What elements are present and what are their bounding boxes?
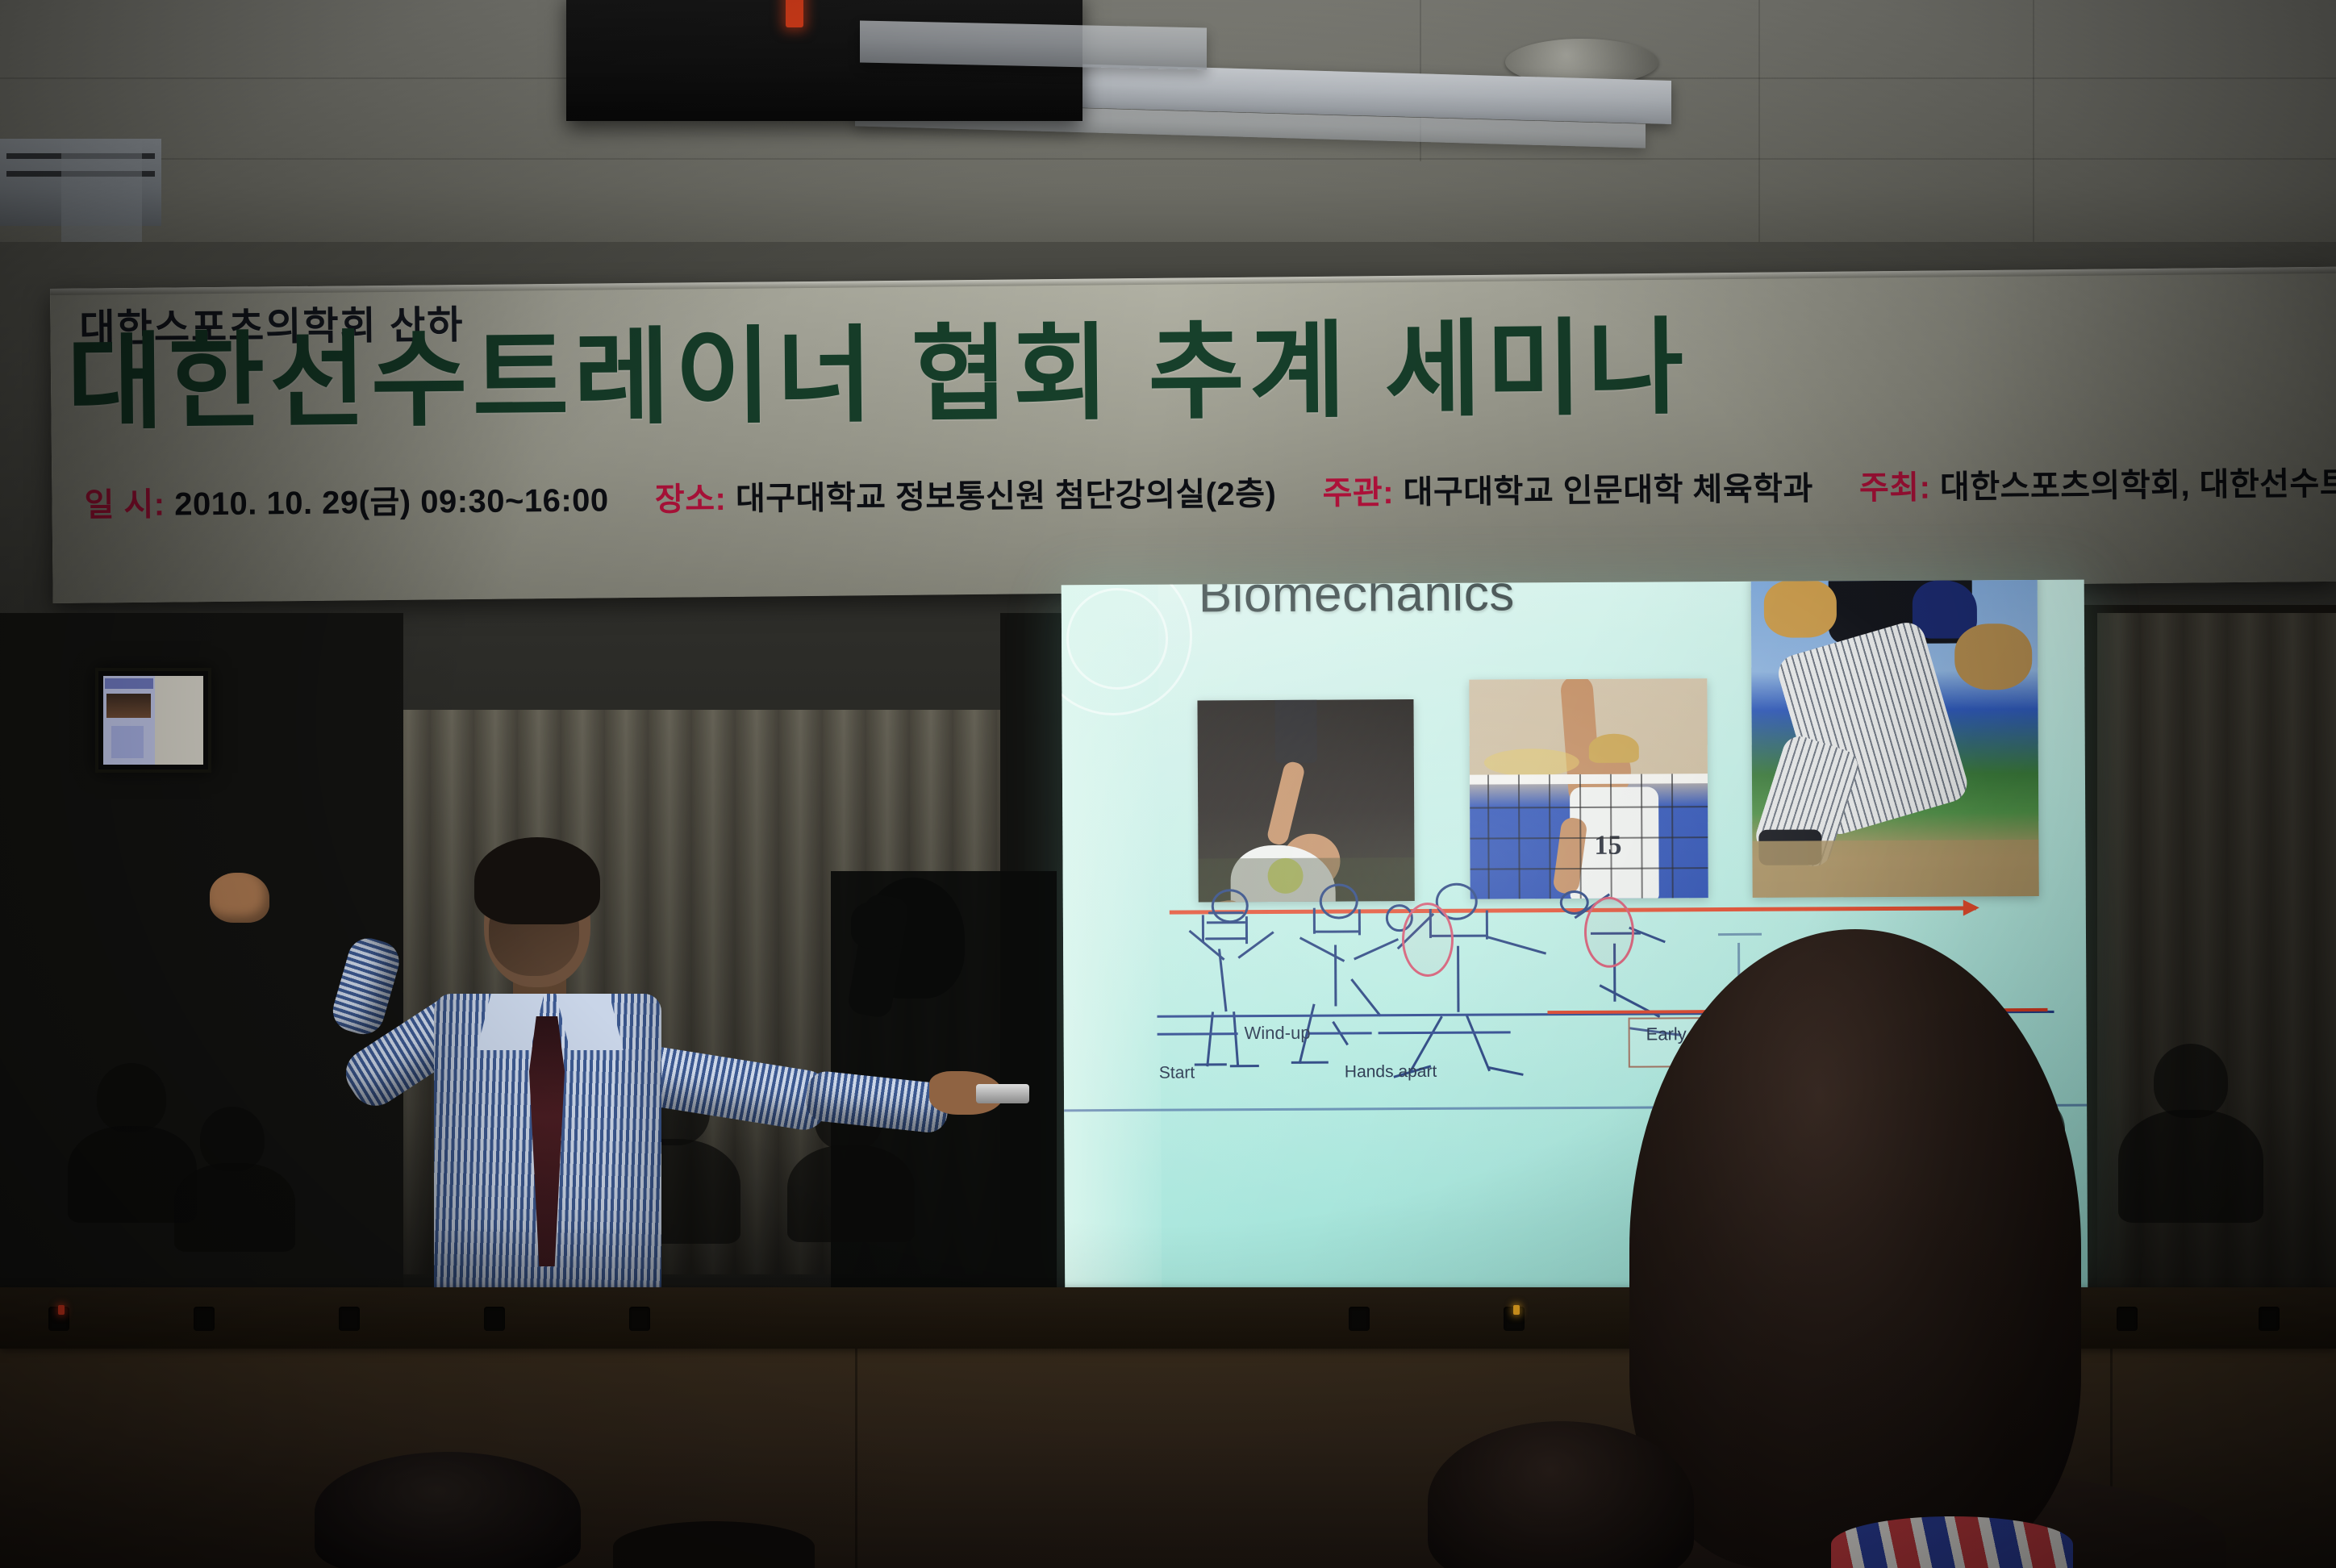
foreground-head-small-2 <box>613 1521 815 1568</box>
ceiling-tile-seam <box>0 158 2336 160</box>
presenter-left-forearm <box>328 933 404 1039</box>
power-led-icon <box>786 0 803 27</box>
event-label-hands-apart: Hands apart <box>1345 1062 1437 1082</box>
shoulder-highlight-circle <box>1584 897 1634 968</box>
ceiling-tile-seam <box>1758 0 1760 266</box>
audience-head <box>97 1063 166 1132</box>
foreground-striped-collar <box>1831 1516 2073 1568</box>
status-led-icon <box>58 1305 65 1315</box>
banner-info-line: 일 시: 2010. 10. 29(금) 09:30~16:00 장소: 대구대… <box>84 456 2336 526</box>
banner-place-label: 장소: <box>655 482 727 518</box>
presenter-left-hand <box>210 873 269 923</box>
foreground-head-large <box>1629 929 2081 1568</box>
photo-scene: 대한스포츠의학회 산하 대한선수트레이너 협회 추계 세미나 일 시: 2010… <box>0 0 2336 1568</box>
phase-tick <box>1379 1031 1511 1034</box>
status-led-icon <box>1513 1305 1520 1315</box>
shoulder-highlight-circle <box>1402 903 1454 977</box>
baseball-pitch-photo <box>1751 580 2039 898</box>
foreground-head-small <box>315 1452 581 1568</box>
phase-label-wind-up: Wind-up <box>1245 1023 1311 1044</box>
phase-tick <box>1158 1032 1238 1036</box>
confidence-monitor <box>95 668 211 773</box>
slide-title: Biomechanics <box>1199 580 1515 624</box>
banner-title: 대한선수트레이너 협회 추계 세미나 <box>66 315 1689 436</box>
banner-host-value: 대구대학교 인문대학 체육학과 <box>1403 471 1813 511</box>
presenter-hair <box>474 837 600 924</box>
event-banner: 대한스포츠의학회 산하 대한선수트레이너 협회 추계 세미나 일 시: 2010… <box>50 267 2336 603</box>
decorative-circle <box>1062 580 1193 716</box>
monitor-screen <box>103 676 203 765</box>
banner-organizer-value: 대한스포츠의학회, 대한선수트레이너협회 <box>1940 465 2336 506</box>
presenter-shadow-hand <box>851 902 904 949</box>
tennis-serve-photo <box>1197 699 1414 902</box>
volleyball-block-photo: 15 <box>1469 678 1708 899</box>
ceiling <box>0 0 2336 266</box>
banner-host-label: 주관: <box>1322 475 1394 511</box>
audience-body <box>2118 1110 2263 1223</box>
laser-pointer-icon <box>976 1084 1029 1103</box>
banner-place-value: 대구대학교 정보통신원 첨단강의실(2층) <box>736 476 1277 516</box>
audience-head <box>2154 1044 2228 1118</box>
phase-tick <box>1308 1032 1372 1034</box>
jersey-number: 15 <box>1594 831 1621 861</box>
banner-organizer-label: 주최: <box>1859 470 1931 507</box>
banner-date-value: 2010. 10. 29(금) 09:30~16:00 <box>174 482 609 522</box>
ceiling-tile-seam <box>2033 0 2034 242</box>
banner-date-label: 일 시: <box>84 487 165 523</box>
event-label-start: Start <box>1159 1063 1195 1082</box>
ceiling-light-fixture <box>860 20 1207 69</box>
